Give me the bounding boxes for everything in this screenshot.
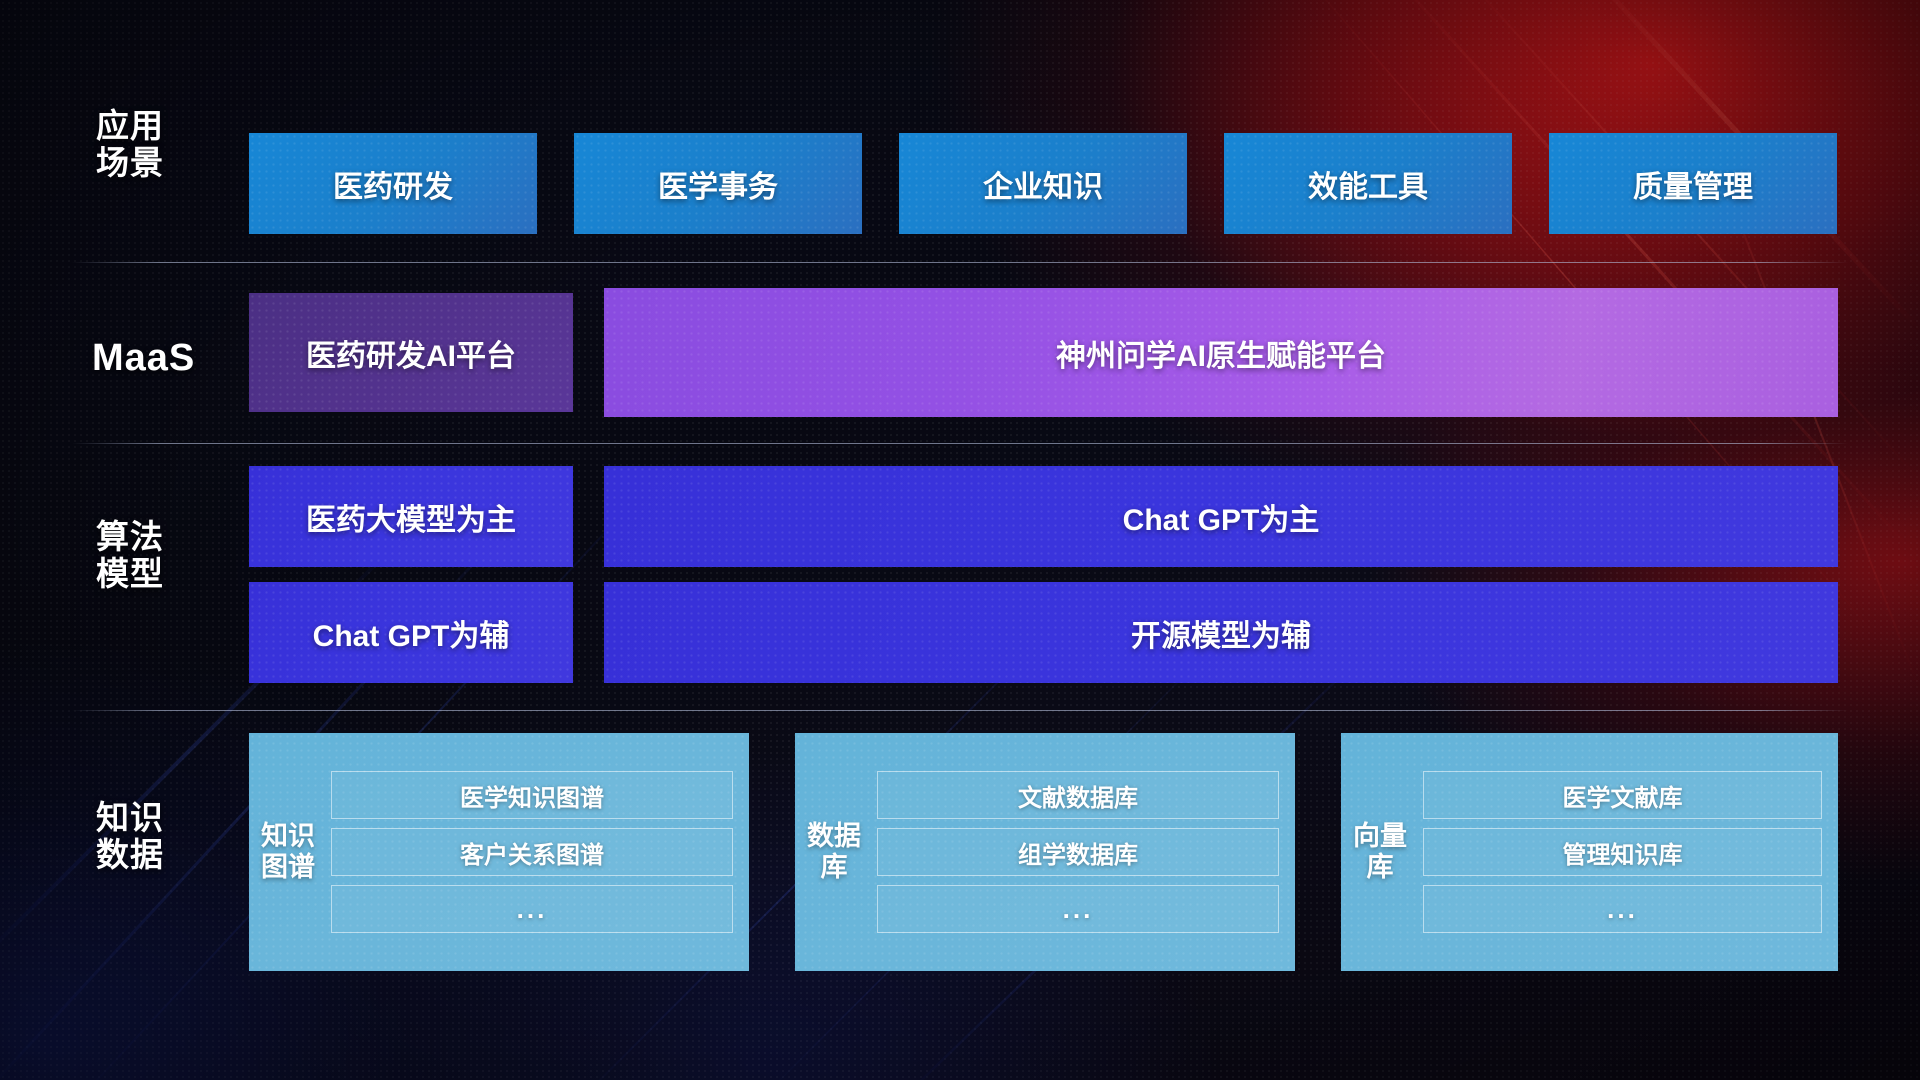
knowledge-item-label: 文献数据库 bbox=[1018, 778, 1138, 813]
knowledge-item[interactable]: 客户关系图谱 bbox=[331, 828, 733, 876]
row-label-maas: MaaS bbox=[92, 337, 262, 380]
knowledge-item-label: 客户关系图谱 bbox=[460, 835, 604, 870]
row-label-application: 应用 场景 bbox=[96, 108, 236, 182]
divider-maas-algorithm bbox=[72, 443, 1848, 444]
algorithm-left-card-0-label: 医药大模型为主 bbox=[306, 495, 516, 539]
algorithm-right-card-0[interactable]: Chat GPT为主 bbox=[604, 466, 1838, 567]
app-card-1-label: 医学事务 bbox=[658, 162, 778, 206]
app-card-3[interactable]: 效能工具 bbox=[1224, 133, 1512, 234]
knowledge-item[interactable]: 组学数据库 bbox=[877, 828, 1279, 876]
diagram-canvas: 应用 场景 医药研发 医学事务 企业知识 效能工具 质量管理 MaaS 医药研发… bbox=[0, 0, 1920, 1080]
row-label-knowledge: 知识 数据 bbox=[96, 800, 246, 874]
knowledge-item[interactable]: 文献数据库 bbox=[877, 771, 1279, 819]
algorithm-left-card-1[interactable]: Chat GPT为辅 bbox=[249, 582, 573, 683]
knowledge-item-label: ... bbox=[1063, 894, 1094, 925]
knowledge-group-0-items: 医学知识图谱 客户关系图谱 ... bbox=[327, 733, 749, 971]
knowledge-item[interactable]: ... bbox=[331, 885, 733, 933]
algorithm-left-card-1-label: Chat GPT为辅 bbox=[313, 611, 510, 655]
knowledge-item-label: ... bbox=[517, 894, 548, 925]
knowledge-item-label: ... bbox=[1607, 894, 1638, 925]
maas-main-card-label: 神州问学AI原生赋能平台 bbox=[1056, 331, 1386, 375]
knowledge-group-1[interactable]: 数据库 文献数据库 组学数据库 ... bbox=[795, 733, 1295, 971]
knowledge-item-label: 医学知识图谱 bbox=[460, 778, 604, 813]
knowledge-item[interactable]: 医学知识图谱 bbox=[331, 771, 733, 819]
app-card-0[interactable]: 医药研发 bbox=[249, 133, 537, 234]
knowledge-group-2[interactable]: 向量库 医学文献库 管理知识库 ... bbox=[1341, 733, 1838, 971]
row-label-algorithm: 算法 模型 bbox=[96, 519, 246, 593]
app-card-1[interactable]: 医学事务 bbox=[574, 133, 862, 234]
knowledge-item-label: 管理知识库 bbox=[1563, 835, 1683, 870]
maas-main-card[interactable]: 神州问学AI原生赋能平台 bbox=[604, 288, 1838, 417]
knowledge-group-0-title: 知识图谱 bbox=[249, 733, 327, 971]
app-card-4[interactable]: 质量管理 bbox=[1549, 133, 1837, 234]
algorithm-right-card-1[interactable]: 开源模型为辅 bbox=[604, 582, 1838, 683]
divider-algorithm-knowledge bbox=[72, 710, 1848, 711]
knowledge-item[interactable]: 医学文献库 bbox=[1423, 771, 1822, 819]
knowledge-item[interactable]: 管理知识库 bbox=[1423, 828, 1822, 876]
app-card-0-label: 医药研发 bbox=[333, 162, 453, 206]
knowledge-item-label: 组学数据库 bbox=[1018, 835, 1138, 870]
divider-application-maas bbox=[72, 262, 1848, 263]
app-card-2[interactable]: 企业知识 bbox=[899, 133, 1187, 234]
maas-left-card[interactable]: 医药研发AI平台 bbox=[249, 293, 573, 412]
algorithm-right-card-0-label: Chat GPT为主 bbox=[1123, 495, 1320, 539]
knowledge-item-label: 医学文献库 bbox=[1563, 778, 1683, 813]
knowledge-item[interactable]: ... bbox=[1423, 885, 1822, 933]
knowledge-group-1-items: 文献数据库 组学数据库 ... bbox=[873, 733, 1295, 971]
knowledge-item[interactable]: ... bbox=[877, 885, 1279, 933]
algorithm-left-card-0[interactable]: 医药大模型为主 bbox=[249, 466, 573, 567]
knowledge-group-2-title: 向量库 bbox=[1341, 733, 1419, 971]
app-card-3-label: 效能工具 bbox=[1308, 162, 1428, 206]
app-card-2-label: 企业知识 bbox=[983, 162, 1103, 206]
maas-left-card-label: 医药研发AI平台 bbox=[306, 331, 516, 375]
knowledge-group-1-title: 数据库 bbox=[795, 733, 873, 971]
knowledge-group-2-items: 医学文献库 管理知识库 ... bbox=[1419, 733, 1838, 971]
algorithm-right-card-1-label: 开源模型为辅 bbox=[1131, 611, 1311, 655]
app-card-4-label: 质量管理 bbox=[1633, 162, 1753, 206]
knowledge-group-0[interactable]: 知识图谱 医学知识图谱 客户关系图谱 ... bbox=[249, 733, 749, 971]
